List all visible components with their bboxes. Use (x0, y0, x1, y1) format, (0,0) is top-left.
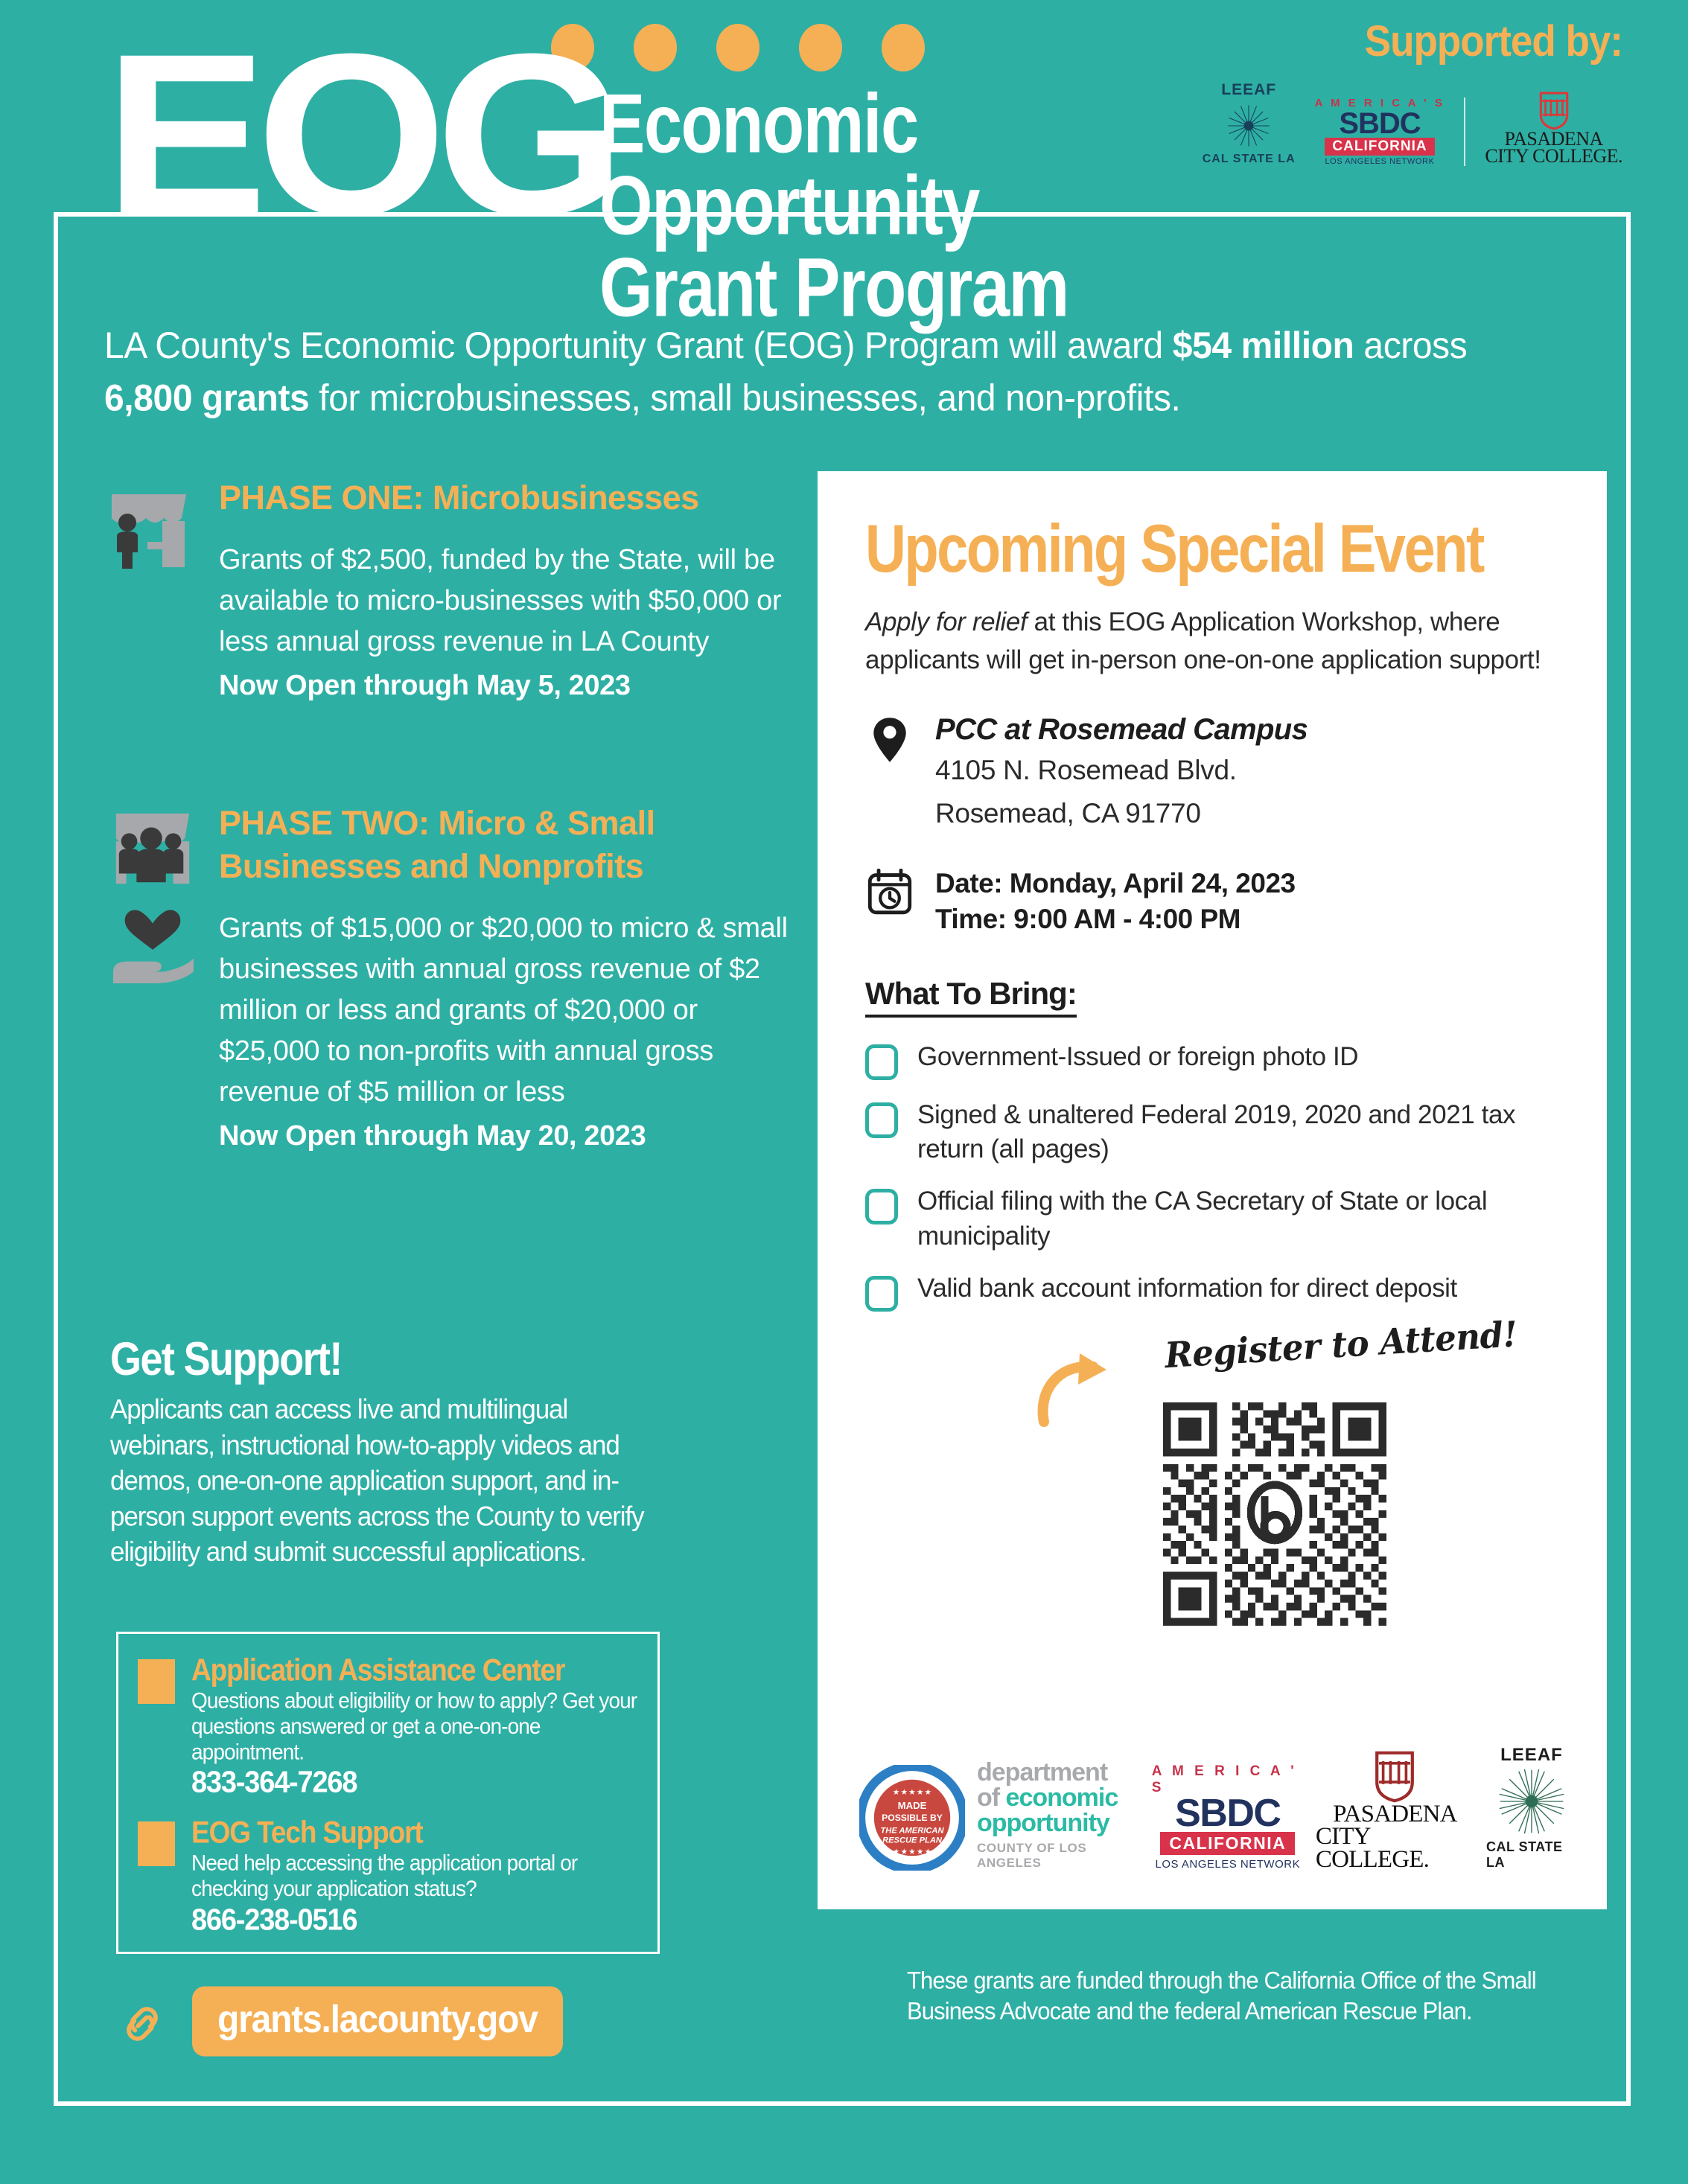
assistance-box: Application Assistance Center Questions … (116, 1632, 660, 1954)
sbdc-california-label-bottom: CALIFORNIA (1160, 1832, 1295, 1855)
event-address-line1: 4105 N. Rosemead Blvd. (935, 751, 1308, 790)
phase-one-text: Grants of $2,500, funded by the State, w… (219, 540, 789, 662)
svg-text:POSSIBLE BY: POSSIBLE BY (882, 1813, 943, 1823)
storefront-single-person-icon (104, 481, 194, 570)
cal-state-la-label-bottom: CAL STATE LA (1486, 1839, 1577, 1871)
svg-text:RESCUE PLAN: RESCUE PLAN (882, 1836, 943, 1845)
program-title-line2: Opportunity (599, 165, 1068, 247)
intro-part1: LA County's Economic Opportunity Grant (… (104, 325, 1173, 366)
phase-one-body: PHASE ONE: Microbusinesses Grants of $2,… (219, 476, 789, 706)
checklist-item[interactable]: Valid bank account information for direc… (865, 1271, 1567, 1312)
checklist-item[interactable]: Government-Issued or foreign photo ID (865, 1040, 1567, 1080)
left-column: PHASE ONE: Microbusinesses Grants of $2,… (104, 476, 789, 1157)
pcc-shield-icon-top (1538, 92, 1570, 130)
leeaf-burst-icon-top (1224, 101, 1273, 150)
sbdc-label-top: SBDC (1339, 109, 1420, 138)
event-panel: Upcoming Special Event Apply for relief … (818, 471, 1607, 1909)
phase-one-block: PHASE ONE: Microbusinesses Grants of $2,… (104, 476, 789, 706)
eog-acronym: EOG (104, 45, 615, 225)
leeaf-logo-bottom: LEEAF (1486, 1745, 1577, 1871)
checkbox-1[interactable] (865, 1044, 898, 1080)
pcc-logo-bottom: PASADENA CITY COLLEGE. (1316, 1751, 1474, 1871)
svg-text:MADE: MADE (898, 1800, 927, 1811)
pcc-label-citycollege-top: CITY COLLEGE. (1485, 147, 1622, 166)
calendar-clock-icon (867, 869, 912, 915)
phase-two-deadline: Now Open through May 20, 2023 (219, 1116, 789, 1157)
leeaf-label-bottom: LEEAF (1500, 1745, 1563, 1766)
intro-part3: for microbusinesses, small businesses, a… (309, 378, 1180, 419)
heart-in-hand-icon (109, 904, 197, 985)
register-block: Register to Attend! (865, 1316, 1567, 1666)
deo-line2-of: of (977, 1784, 1006, 1812)
svg-text:★ ★ ★ ★ ★: ★ ★ ★ ★ ★ (893, 1848, 932, 1856)
event-datetime-row: Date: Monday, April 24, 2023 Time: 9:00 … (865, 866, 1567, 937)
bullet-square-icon-2 (138, 1821, 175, 1866)
program-title-line3: Grant Program (599, 247, 1068, 329)
checkbox-4[interactable] (865, 1276, 898, 1312)
program-title: Economic Opportunity Grant Program (599, 83, 1068, 329)
bitly-qr-code[interactable] (1163, 1402, 1386, 1626)
masthead: EOG Economic Opportunity Grant Program (104, 45, 1068, 284)
website-row: grants.lacounty.gov (119, 1989, 563, 2054)
checklist-item[interactable]: Signed & unaltered Federal 2019, 2020 an… (865, 1098, 1567, 1166)
phase-two-title: PHASE TWO: Micro & Small Businesses and … (219, 802, 789, 889)
american-rescue-plan-seal-icon: MADE POSSIBLE BY THE AMERICAN RESCUE PLA… (859, 1765, 965, 1871)
supported-by-label: Supported by: (1203, 16, 1622, 66)
event-venue: PCC at Rosemead Campus (935, 713, 1308, 747)
program-title-line1: Economic (599, 83, 1068, 165)
svg-text:★ ★ ★ ★ ★: ★ ★ ★ ★ ★ (893, 1789, 932, 1796)
sbdc-label-bottom: SBDC (1175, 1796, 1280, 1832)
deo-logo: department of economic opportunity COUNT… (977, 1760, 1140, 1871)
pcc-logo-top: PASADENA CITY COLLEGE. (1485, 92, 1622, 166)
sbdc-logo-bottom: A M E R I C A ' S SBDC CALIFORNIA LOS AN… (1152, 1763, 1304, 1871)
event-location-row: PCC at Rosemead Campus 4105 N. Rosemead … (865, 713, 1567, 833)
intro-part2: across (1354, 325, 1467, 366)
phase-two-block: PHASE TWO: Micro & Small Businesses and … (104, 802, 789, 1158)
assistance-item-tech-support: EOG Tech Support Need help accessing the… (138, 1817, 640, 1935)
checklist-item[interactable]: Official filing with the CA Secretary of… (865, 1184, 1567, 1253)
deo-line3: opportunity (977, 1810, 1109, 1836)
deo-line1: department (977, 1760, 1107, 1785)
flyer-page: EOG Economic Opportunity Grant Program S… (0, 0, 1688, 2184)
storefront-group-icon (109, 806, 197, 894)
deo-line4: COUNTY OF LOS ANGELES (977, 1841, 1140, 1871)
leeaf-logo-top: LEEAF (1203, 81, 1296, 166)
event-lead-italic: Apply for relief (865, 607, 1027, 636)
logo-divider (1464, 98, 1465, 166)
intro-paragraph: LA County's Economic Opportunity Grant (… (104, 320, 1564, 426)
get-support-text: Applicants can access live and multiling… (110, 1392, 676, 1570)
get-support-title: Get Support! (110, 1332, 676, 1386)
assistance-phone-2[interactable]: 866-238-0516 (191, 1903, 640, 1938)
sbdc-california-label-top: CALIFORNIA (1325, 138, 1434, 156)
cal-state-la-label-top: CAL STATE LA (1203, 153, 1296, 166)
sbdc-network-label-bottom: LOS ANGELES NETWORK (1156, 1858, 1301, 1871)
assistance-description-2: Need help accessing the application port… (191, 1850, 640, 1901)
bullet-square-icon-1 (138, 1659, 175, 1704)
get-support-block: Get Support! Applicants can access live … (110, 1332, 676, 1562)
website-url-button[interactable]: grants.lacounty.gov (192, 1987, 563, 2057)
checklist-label-2: Signed & unaltered Federal 2019, 2020 an… (917, 1098, 1567, 1166)
calendar-clock-icon-wrap (865, 866, 914, 915)
event-date: Date: Monday, April 24, 2023 (935, 866, 1296, 901)
phase-one-deadline: Now Open through May 5, 2023 (219, 665, 789, 706)
event-time: Time: 9:00 AM - 4:00 PM (935, 901, 1296, 937)
event-title: Upcoming Special Event (865, 510, 1567, 587)
checklist-label-4: Valid bank account information for direc… (917, 1271, 1457, 1306)
svg-text:THE AMERICAN: THE AMERICAN (881, 1826, 945, 1835)
event-lead: Apply for relief at this EOG Application… (865, 603, 1567, 679)
leeaf-label-top: LEEAF (1221, 81, 1276, 99)
phase-two-icon-wrap (104, 802, 201, 1158)
phase-two-text: Grants of $15,000 or $20,000 to micro & … (219, 908, 789, 1113)
leeaf-burst-icon-bottom (1496, 1766, 1567, 1837)
assistance-description-1: Questions about eligibility or how to ap… (191, 1688, 640, 1765)
event-address-line2: Rosemead, CA 91770 (935, 794, 1308, 833)
pcc-label-citycollege-bottom: CITY COLLEGE. (1316, 1825, 1474, 1871)
map-pin-icon-wrap (865, 713, 914, 764)
pcc-label-pasadena-bottom: PASADENA (1333, 1803, 1457, 1825)
checkbox-3[interactable] (865, 1189, 898, 1224)
event-info-block: PCC at Rosemead Campus 4105 N. Rosemead … (865, 713, 1567, 937)
assistance-item-application-center: Application Assistance Center Questions … (138, 1655, 640, 1798)
what-to-bring-list: Government-Issued or foreign photo ID Si… (865, 1040, 1567, 1312)
assistance-heading-1: Application Assistance Center (191, 1655, 640, 1688)
funding-footnote: These grants are funded through the Cali… (907, 1965, 1562, 2026)
supported-by-block: Supported by: LEEAF (1203, 16, 1622, 166)
pcc-shield-icon-bottom (1374, 1751, 1415, 1803)
link-chain-icon (119, 1999, 165, 2045)
register-cta-text: Register to Attend! (1164, 1313, 1518, 1376)
arp-seal-logo: MADE POSSIBLE BY THE AMERICAN RESCUE PLA… (859, 1765, 965, 1871)
phase-one-icon-wrap (104, 476, 201, 706)
supported-by-logos: LEEAF (1203, 81, 1622, 166)
checkbox-2[interactable] (865, 1102, 898, 1138)
deo-line2: of economic (977, 1785, 1118, 1810)
checklist-label-3: Official filing with the CA Secretary of… (917, 1184, 1567, 1253)
sbdc-logo-top: A M E R I C A ' S SBDC CALIFORNIA LOS AN… (1315, 97, 1445, 166)
curved-arrow-icon (1035, 1349, 1147, 1431)
assistance-phone-1[interactable]: 833-364-7268 (191, 1766, 640, 1800)
assistance-heading-2: EOG Tech Support (191, 1817, 640, 1850)
phase-two-body: PHASE TWO: Micro & Small Businesses and … (219, 802, 789, 1158)
intro-amount: $54 million (1173, 325, 1354, 366)
what-to-bring-title: What To Bring: (865, 976, 1077, 1018)
intro-grant-count: 6,800 grants (104, 378, 309, 419)
checklist-label-1: Government-Issued or foreign photo ID (917, 1040, 1358, 1074)
partner-logos-strip: MADE POSSIBLE BY THE AMERICAN RESCUE PLA… (859, 1745, 1577, 1871)
deo-line2-economic: economic (1006, 1784, 1118, 1812)
sbdc-network-label-top: LOS ANGELES NETWORK (1325, 157, 1434, 166)
phase-one-title: PHASE ONE: Microbusinesses (219, 476, 789, 520)
map-pin-icon (873, 716, 907, 764)
